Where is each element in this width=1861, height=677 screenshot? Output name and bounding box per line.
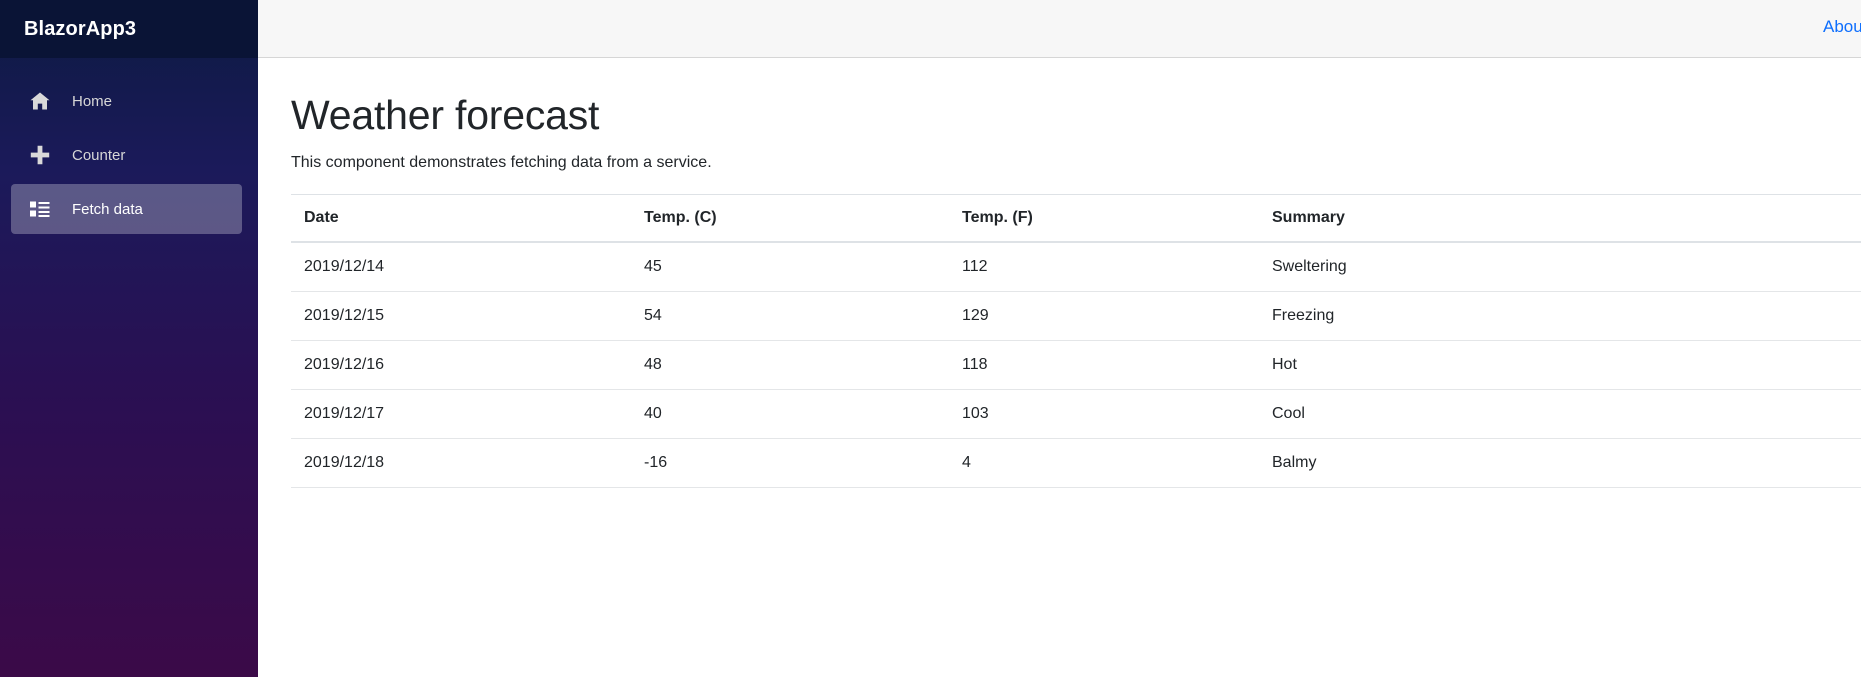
sidebar-item-label-home: Home [72,94,112,109]
column-header-temp-c: Temp. (C) [631,195,949,243]
cell-temp-c: 40 [631,390,949,439]
top-row: About [258,0,1861,58]
table-head: Date Temp. (C) Temp. (F) Summary [291,195,1861,243]
page-description: This component demonstrates fetching dat… [291,154,1861,172]
sidebar-item-home[interactable]: Home [11,76,242,126]
cell-temp-f: 129 [949,292,1259,341]
table-row: 2019/12/14 45 112 Sweltering [291,242,1861,292]
sidebar-item-fetch-data[interactable]: Fetch data [11,184,242,234]
app-root: BlazorApp3 Home Counter [0,0,1861,677]
cell-temp-f: 112 [949,242,1259,292]
cell-summary: Sweltering [1259,242,1861,292]
list-icon [28,198,52,220]
cell-temp-c: 48 [631,341,949,390]
sidebar-item-label-fetch-data: Fetch data [72,202,143,217]
sidebar: BlazorApp3 Home Counter [0,0,258,677]
cell-summary: Cool [1259,390,1861,439]
cell-temp-f: 4 [949,439,1259,488]
weather-forecast-table: Date Temp. (C) Temp. (F) Summary 2019/12… [291,194,1861,488]
column-header-date: Date [291,195,631,243]
cell-summary: Balmy [1259,439,1861,488]
brand-title[interactable]: BlazorApp3 [24,19,136,39]
cell-summary: Hot [1259,341,1861,390]
sidebar-nav: Home Counter [0,58,258,234]
table-header-row: Date Temp. (C) Temp. (F) Summary [291,195,1861,243]
cell-date: 2019/12/17 [291,390,631,439]
table-row: 2019/12/16 48 118 Hot [291,341,1861,390]
cell-date: 2019/12/18 [291,439,631,488]
table-row: 2019/12/18 -16 4 Balmy [291,439,1861,488]
sidebar-item-counter[interactable]: Counter [11,130,242,180]
cell-summary: Freezing [1259,292,1861,341]
table-body: 2019/12/14 45 112 Sweltering 2019/12/15 … [291,242,1861,488]
table-row: 2019/12/15 54 129 Freezing [291,292,1861,341]
cell-temp-c: -16 [631,439,949,488]
cell-temp-f: 118 [949,341,1259,390]
cell-date: 2019/12/16 [291,341,631,390]
plus-icon [28,144,52,166]
cell-date: 2019/12/14 [291,242,631,292]
column-header-temp-f: Temp. (F) [949,195,1259,243]
cell-temp-f: 103 [949,390,1259,439]
home-icon [28,90,52,112]
page-content: Weather forecast This component demonstr… [258,58,1861,677]
cell-date: 2019/12/15 [291,292,631,341]
table-row: 2019/12/17 40 103 Cool [291,390,1861,439]
page-title: Weather forecast [291,91,1861,140]
column-header-summary: Summary [1259,195,1861,243]
brand-bar: BlazorApp3 [0,0,258,58]
cell-temp-c: 54 [631,292,949,341]
sidebar-item-label-counter: Counter [72,148,125,163]
cell-temp-c: 45 [631,242,949,292]
about-link[interactable]: About [1823,17,1861,37]
main-area: About Weather forecast This component de… [258,0,1861,677]
